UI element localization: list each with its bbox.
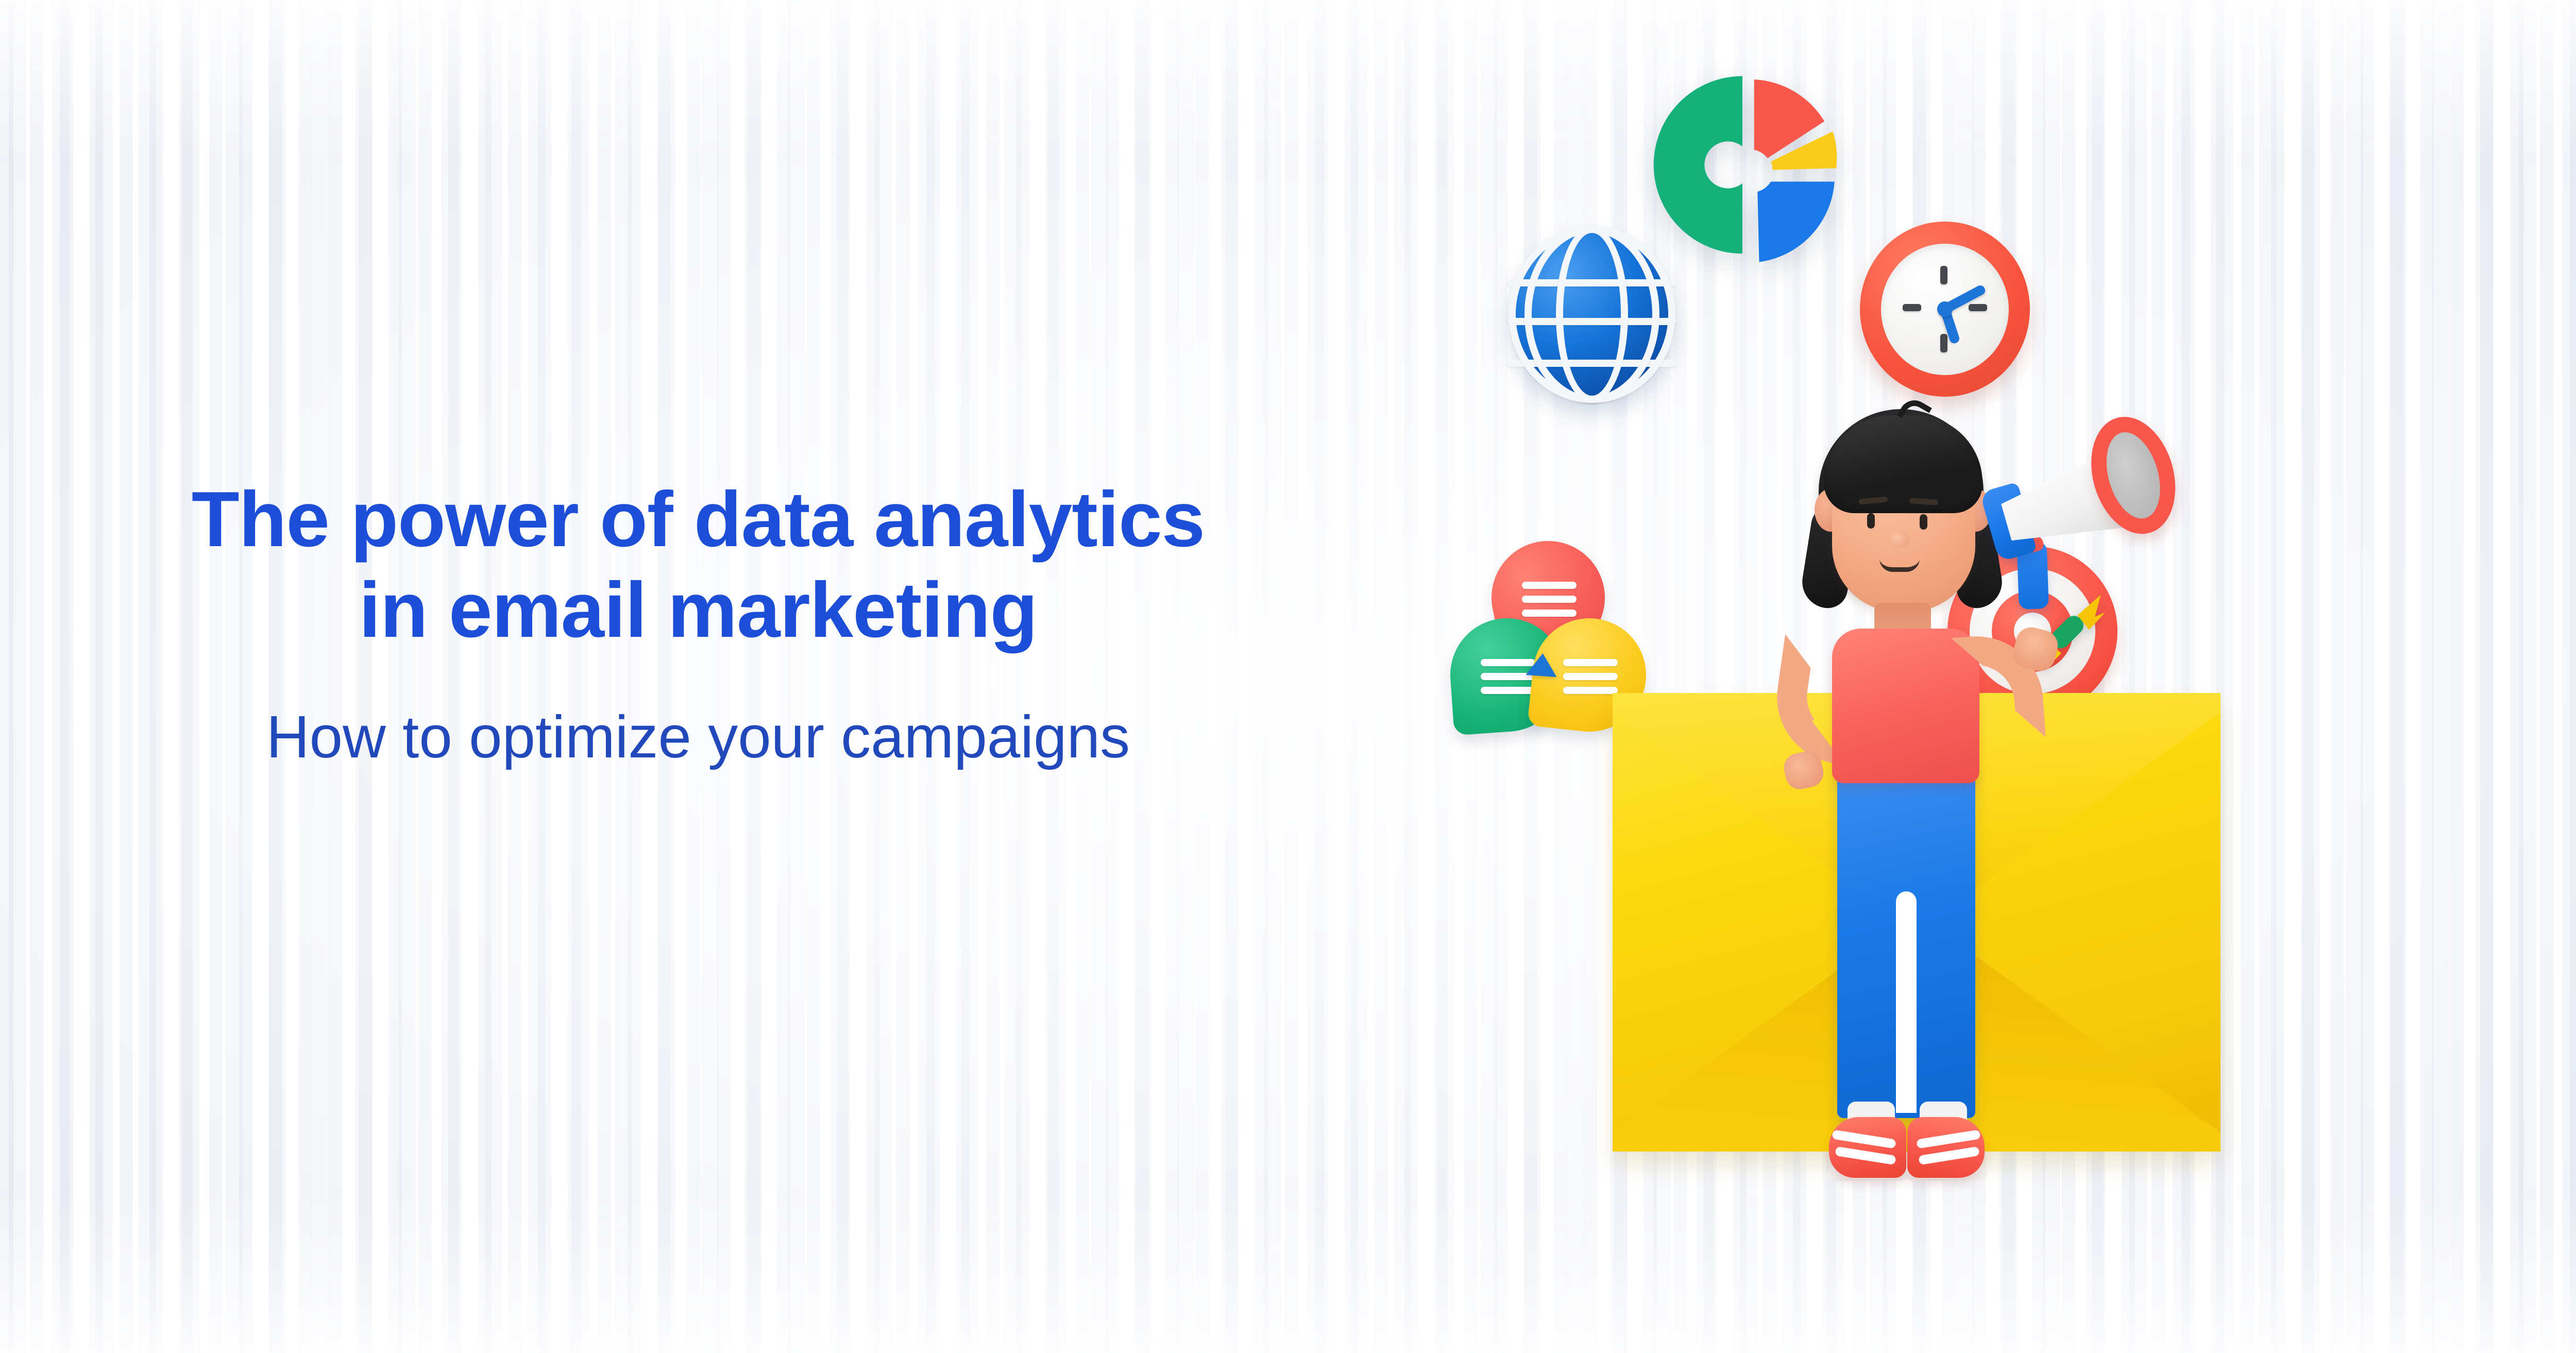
- page-title: The power of data analytics in email mar…: [93, 474, 1303, 656]
- pie-chart-svg: [1649, 57, 1850, 273]
- chat-bubble-center-triangle: [1526, 652, 1558, 677]
- headline-line-2: in email marketing: [359, 566, 1038, 654]
- clock-tick-6: [1940, 334, 1947, 352]
- headline-line-1: The power of data analytics: [192, 476, 1205, 563]
- pie-chart-icon: [1649, 57, 1850, 273]
- illustration-group: [1340, 0, 2576, 1353]
- pie-slice-blue: [1757, 182, 1835, 262]
- character-eye-left: [1867, 513, 1875, 529]
- clock-tick-3: [1969, 304, 1987, 311]
- chat-bubble-yellow-lines: [1563, 659, 1618, 701]
- page-subtitle: How to optimize your campaigns: [93, 701, 1303, 773]
- chat-bubble-red-lines: [1522, 582, 1577, 623]
- clock-face: [1881, 244, 2009, 375]
- clock-icon: [1860, 222, 2030, 397]
- character-nose: [1889, 532, 1909, 548]
- character-leg-gap: [1896, 891, 1917, 1113]
- clock-center-pin: [1937, 301, 1953, 317]
- character-eye-right: [1920, 514, 1927, 530]
- banner-canvas: The power of data analytics in email mar…: [0, 0, 2576, 1353]
- pie-slice-green: [1654, 76, 1742, 254]
- clock-tick-9: [1903, 304, 1921, 311]
- headline-block: The power of data analytics in email mar…: [93, 474, 1303, 773]
- clock-tick-12: [1940, 266, 1947, 284]
